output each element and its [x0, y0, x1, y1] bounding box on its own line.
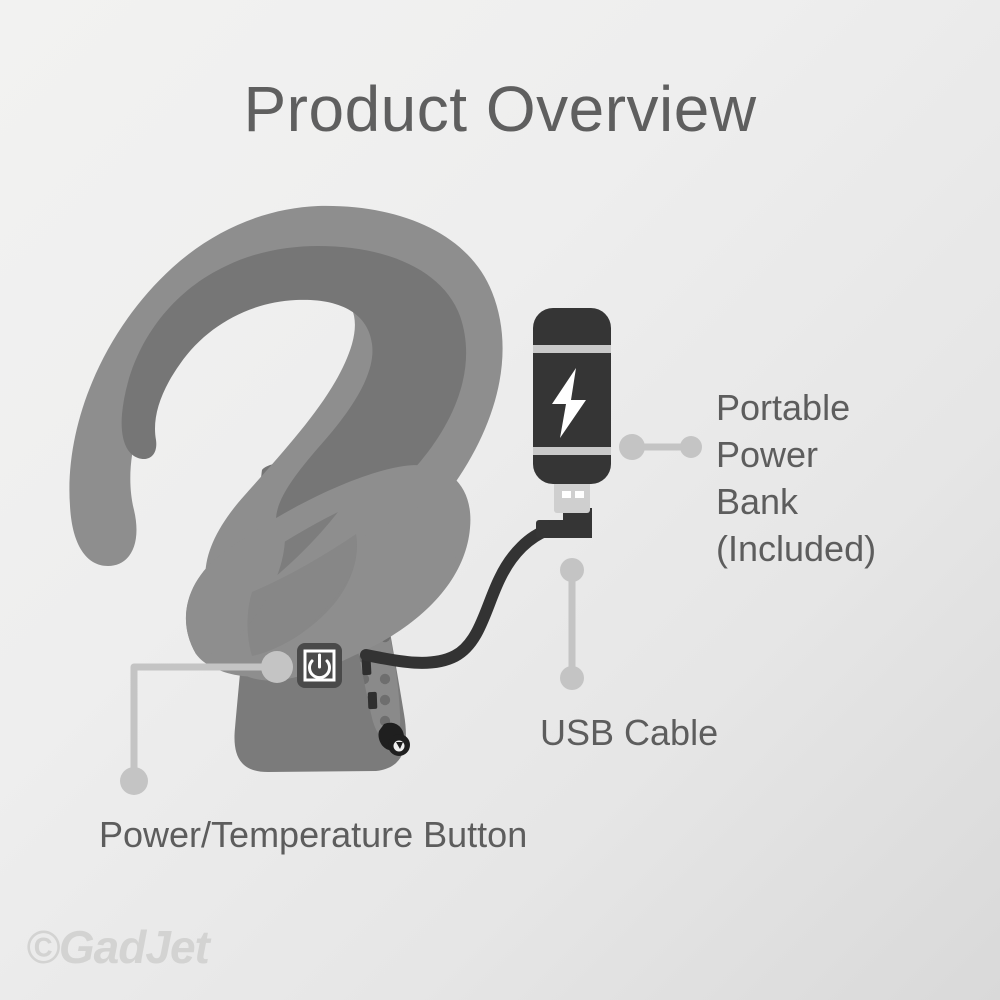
power-temperature-button[interactable] — [297, 643, 342, 688]
callout-line: Power — [716, 434, 818, 475]
leader-line-usb-cable — [560, 558, 584, 690]
scarf-loop — [69, 206, 502, 681]
portable-power-bank — [533, 308, 611, 484]
brand-watermark: ©GadJet — [26, 920, 209, 974]
page-title: Product Overview — [0, 72, 1000, 146]
leader-line-power-bank — [619, 434, 702, 460]
callout-label-usb-cable: USB Cable — [540, 712, 718, 754]
callout-line: (Included) — [716, 528, 876, 569]
callout-label-power-bank: PortablePowerBank(Included) — [716, 384, 986, 572]
callout-line: Portable — [716, 387, 850, 428]
callout-label-power-button: Power/Temperature Button — [99, 814, 527, 856]
product-overview-diagram: Product Overview PortablePowerBank(Inclu… — [0, 0, 1000, 1000]
callout-line: Bank — [716, 481, 798, 522]
